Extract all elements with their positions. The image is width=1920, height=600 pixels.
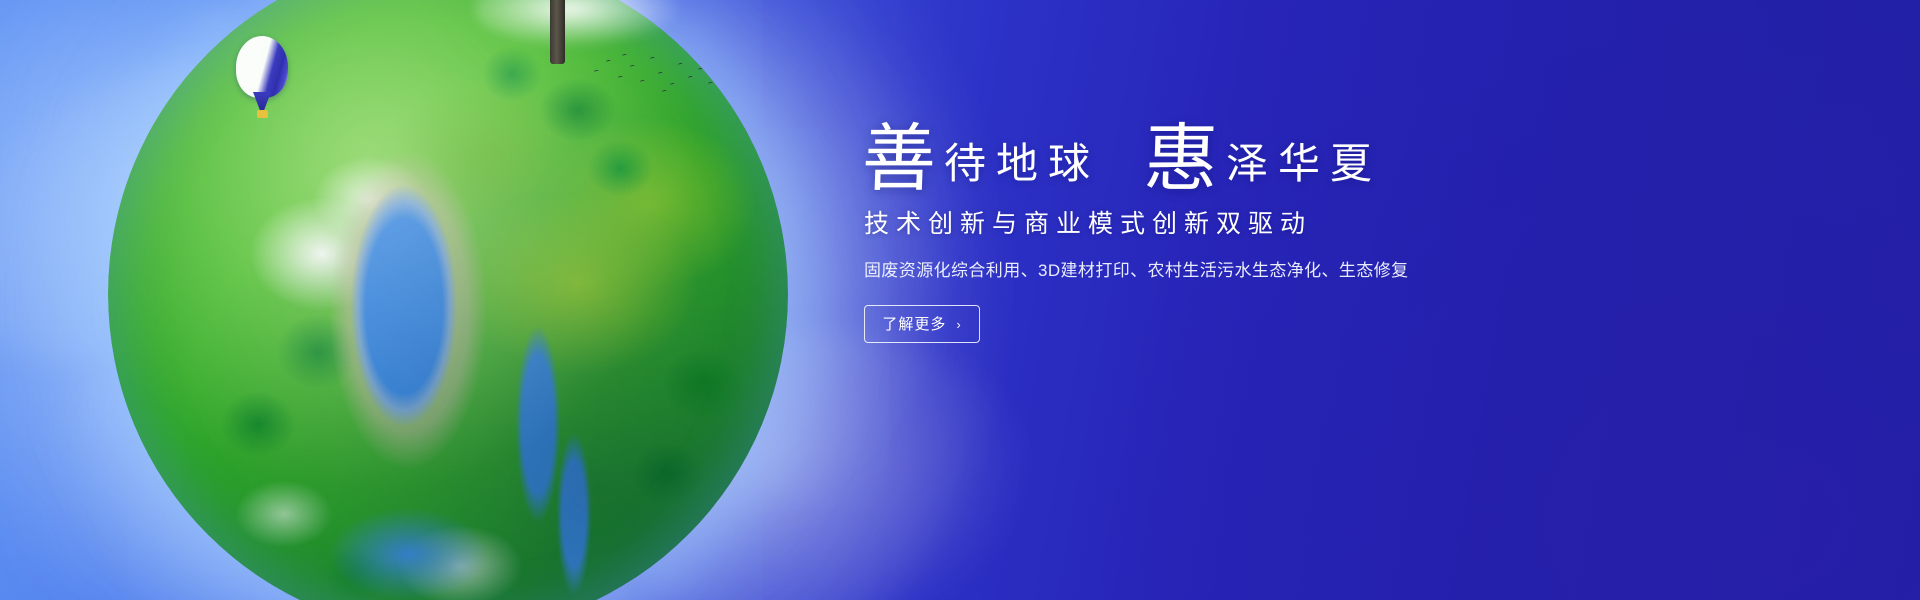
balloon-envelope	[236, 36, 288, 98]
balloon-basket	[257, 110, 268, 118]
hero-banner: 善 待地球 惠 泽华夏 技术创新与商业模式创新双驱动 固废资源化综合利用、3D建…	[0, 0, 1920, 600]
chevron-right-icon: ›	[956, 318, 961, 331]
learn-more-button[interactable]: 了解更多 ›	[864, 305, 980, 343]
headline-char-hui: 惠	[1143, 126, 1219, 194]
flock-of-birds	[592, 52, 722, 98]
tree-on-planet	[464, 0, 654, 58]
headline-text-zehuaxia: 泽华夏	[1226, 144, 1382, 194]
headline-char-shan: 善	[861, 126, 937, 194]
banner-content: 善 待地球 惠 泽华夏 技术创新与商业模式创新双驱动 固废资源化综合利用、3D建…	[862, 126, 1582, 343]
hot-air-balloon-icon	[236, 36, 294, 122]
balloon-skirt	[253, 92, 271, 110]
page-title: 善 待地球 惠 泽华夏	[862, 126, 1582, 194]
banner-description: 固废资源化综合利用、3D建材打印、农村生活污水生态净化、生态修复	[864, 256, 1582, 281]
banner-subtitle: 技术创新与商业模式创新双驱动	[864, 204, 1582, 240]
learn-more-label: 了解更多	[882, 317, 946, 332]
headline-text-daidiqiu: 待地球	[944, 144, 1100, 194]
